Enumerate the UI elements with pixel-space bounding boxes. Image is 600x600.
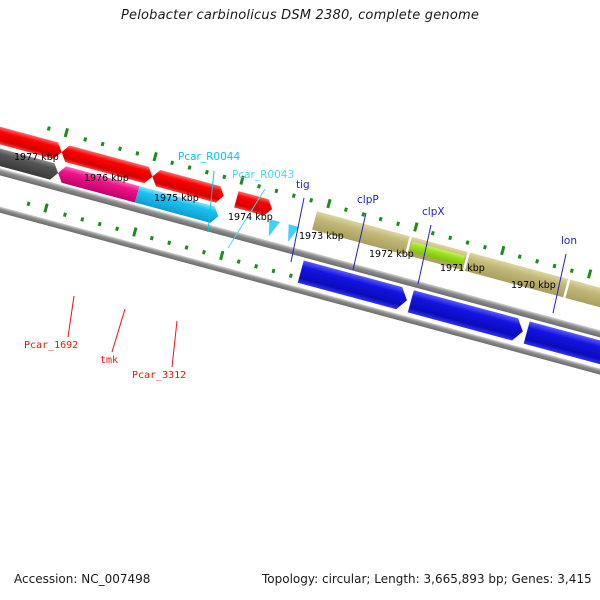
- gene-label-tig[interactable]: tig: [296, 179, 310, 191]
- scale-label: 1975 kbp: [154, 193, 199, 204]
- scale-label: 1973 kbp: [299, 231, 344, 242]
- genome-map[interactable]: 1977 kbp 1976 kbp 1975 kbp 1974 kbp 1973…: [0, 0, 600, 600]
- scale-label: 1977 kbp: [14, 152, 59, 163]
- scale-label: 1976 kbp: [84, 173, 129, 184]
- leader-tmk: [112, 309, 125, 352]
- gene-label-Pcar_R0043[interactable]: Pcar_R0043: [232, 169, 294, 181]
- gene-label-Pcar_R0044[interactable]: Pcar_R0044: [178, 151, 240, 163]
- accession-text: Accession: NC_007498: [14, 572, 150, 586]
- gene-label-clpX[interactable]: clpX: [422, 206, 445, 218]
- genome-stats-text: Topology: circular; Length: 3,665,893 bp…: [262, 572, 592, 586]
- gene-label-Pcar_3312[interactable]: Pcar_3312: [132, 370, 186, 381]
- scale-label: 1972 kbp: [369, 249, 414, 260]
- scale-label: 1971 kbp: [440, 263, 485, 274]
- gene-label-Pcar_1692[interactable]: Pcar_1692: [24, 340, 78, 351]
- gene-label-clpP[interactable]: clpP: [357, 194, 379, 206]
- leader-Pcar_3312: [172, 321, 177, 367]
- scale-label: 1970 kbp: [511, 280, 556, 291]
- gene-label-tmk[interactable]: tmk: [100, 355, 118, 366]
- scale-label: 1974 kbp: [228, 212, 273, 223]
- leader-Pcar_1692: [68, 296, 74, 337]
- gene-label-lon[interactable]: lon: [561, 235, 577, 247]
